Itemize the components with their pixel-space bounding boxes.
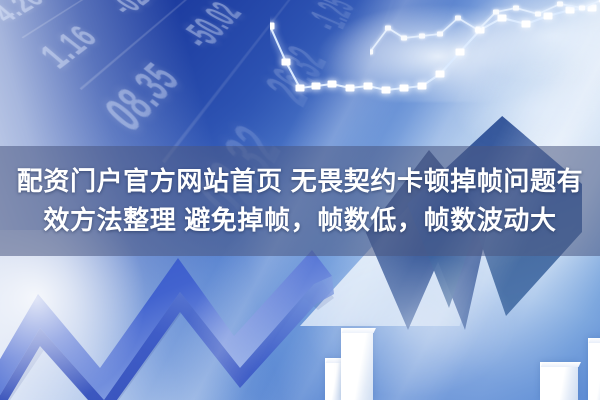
center-glow: [300, 250, 520, 400]
headline-text-block: 配资门户官方网站首页 无畏契约卡顿掉帧问题有 效方法整理 避免掉帧，帧数低，帧数…: [0, 146, 600, 256]
headline-line-2: 效方法整理 避免掉帧，帧数低，帧数波动大: [8, 201, 592, 240]
banner-image: -50.02-02.36-11.25-50.0245.0221.062.36-0…: [0, 0, 600, 400]
headline-line-1: 配资门户官方网站首页 无畏契约卡顿掉帧问题有: [8, 162, 592, 201]
